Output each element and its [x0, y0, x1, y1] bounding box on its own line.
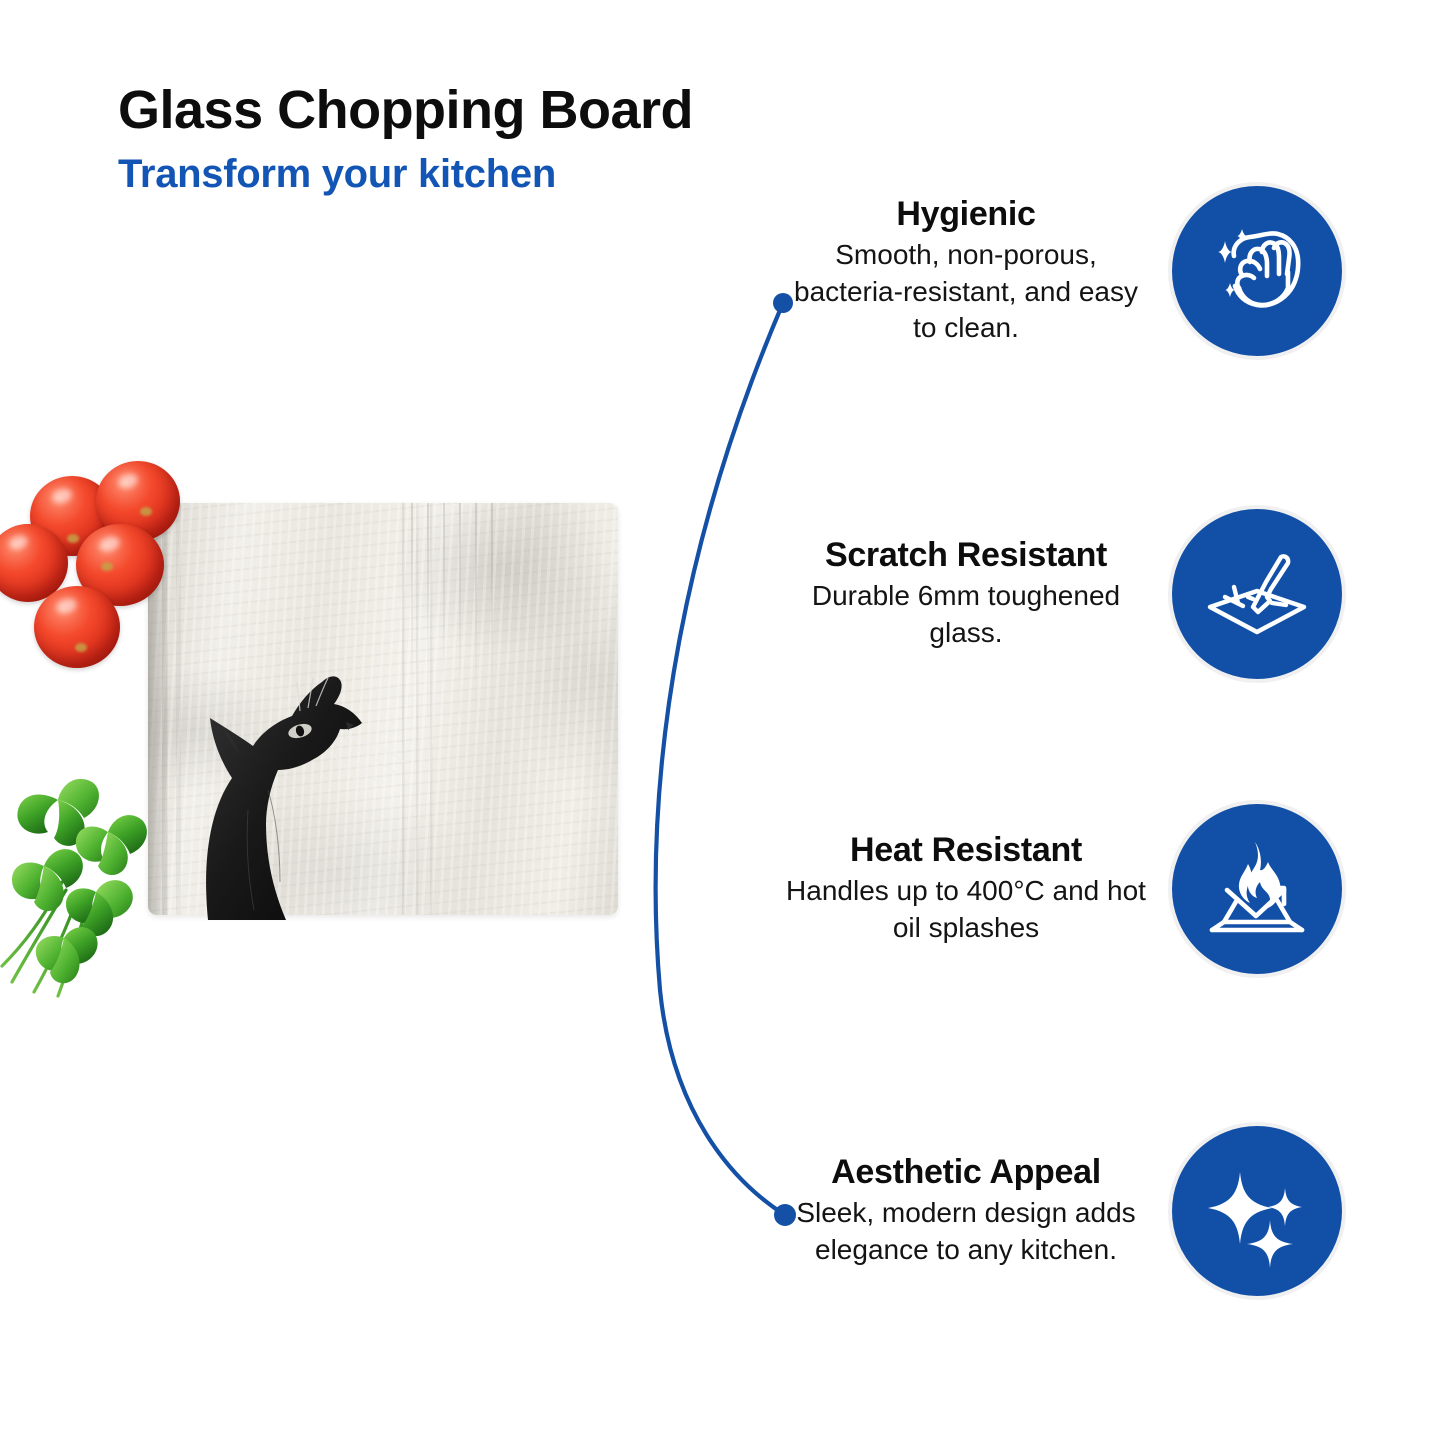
- parsley-garnish: [0, 770, 175, 1000]
- feature-description: Smooth, non-porous, bacteria-resistant, …: [786, 237, 1146, 346]
- hand-wipe-sparkle-glyph: [1198, 212, 1316, 330]
- feature-text: Scratch Resistant Durable 6mm toughened …: [786, 537, 1146, 651]
- feature-heat-resistant: Heat Resistant Handles up to 400°C and h…: [786, 800, 1346, 978]
- infographic-page: Glass Chopping Board Transform your kitc…: [0, 0, 1445, 1445]
- feature-description: Durable 6mm toughened glass.: [786, 578, 1146, 651]
- feature-text: Heat Resistant Handles up to 400°C and h…: [786, 832, 1146, 946]
- feature-hygienic: Hygienic Smooth, non-porous, bacteria-re…: [786, 182, 1346, 360]
- hand-wipe-sparkle-icon: [1168, 182, 1346, 360]
- feature-text: Hygienic Smooth, non-porous, bacteria-re…: [786, 196, 1146, 347]
- feature-title: Hygienic: [786, 196, 1146, 233]
- knife-on-surface-icon: [1168, 505, 1346, 683]
- knife-on-surface-glyph: [1198, 535, 1316, 653]
- header: Glass Chopping Board Transform your kitc…: [118, 80, 878, 197]
- feature-scratch-resistant: Scratch Resistant Durable 6mm toughened …: [786, 505, 1346, 683]
- feature-title: Scratch Resistant: [786, 537, 1146, 574]
- sparkles-glyph: [1198, 1152, 1316, 1270]
- flame-deflect-glyph: [1198, 830, 1316, 948]
- feature-text: Aesthetic Appeal Sleek, modern design ad…: [786, 1154, 1146, 1268]
- cat-artwork: [150, 610, 450, 920]
- page-title: Glass Chopping Board: [118, 80, 878, 140]
- connector-line: [656, 303, 785, 1215]
- feature-description: Sleek, modern design adds elegance to an…: [786, 1195, 1146, 1268]
- feature-title: Heat Resistant: [786, 832, 1146, 869]
- feature-title: Aesthetic Appeal: [786, 1154, 1146, 1191]
- sparkles-icon: [1168, 1122, 1346, 1300]
- tomato: [34, 586, 120, 668]
- product-image: [0, 440, 660, 1000]
- flame-deflect-icon: [1168, 800, 1346, 978]
- page-subtitle: Transform your kitchen: [118, 151, 878, 197]
- feature-aesthetic-appeal: Aesthetic Appeal Sleek, modern design ad…: [786, 1122, 1346, 1300]
- feature-description: Handles up to 400°C and hot oil splashes: [786, 873, 1146, 946]
